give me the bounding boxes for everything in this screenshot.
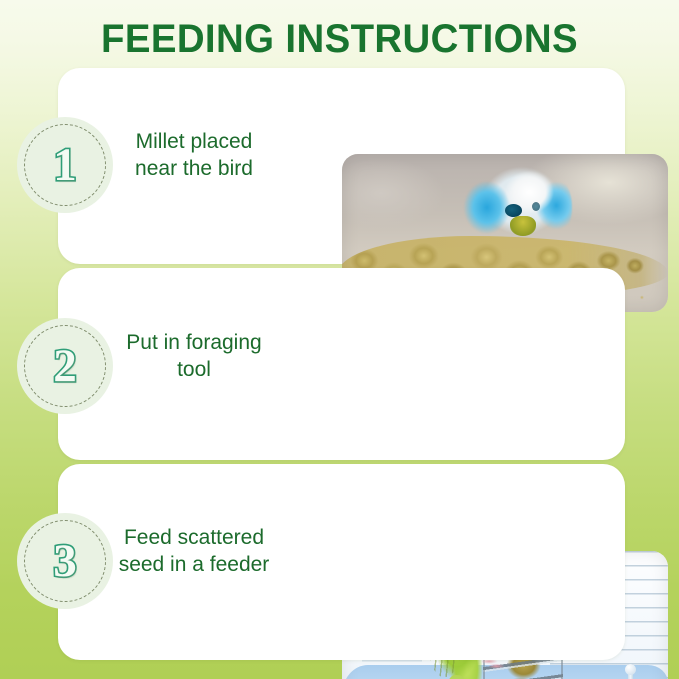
step-1-text: Millet placed near the bird (105, 128, 283, 182)
step-3-line-2: seed in a feeder (105, 551, 283, 578)
step-badge-3: 3 (17, 513, 113, 609)
step-number-2: 2 (17, 318, 113, 414)
step-3-text: Feed scattered seed in a feeder (105, 524, 283, 578)
step-badge-2: 2 (17, 318, 113, 414)
page-title: FEEDING INSTRUCTIONS (14, 16, 666, 62)
step-2-text: Put in foraging tool (105, 329, 283, 383)
step-badge-1: 1 (17, 117, 113, 213)
step-2-line-1: Put in foraging (105, 329, 283, 356)
step-2-line-2: tool (105, 356, 283, 383)
feeding-instructions-poster: FEEDING INSTRUCTIONS 1 Millet placed nea… (0, 0, 679, 679)
step-number-3: 3 (17, 513, 113, 609)
step-1-line-2: near the bird (105, 155, 283, 182)
step-number-1: 1 (17, 117, 113, 213)
step-3-line-1: Feed scattered (105, 524, 283, 551)
step-1-line-1: Millet placed (105, 128, 283, 155)
